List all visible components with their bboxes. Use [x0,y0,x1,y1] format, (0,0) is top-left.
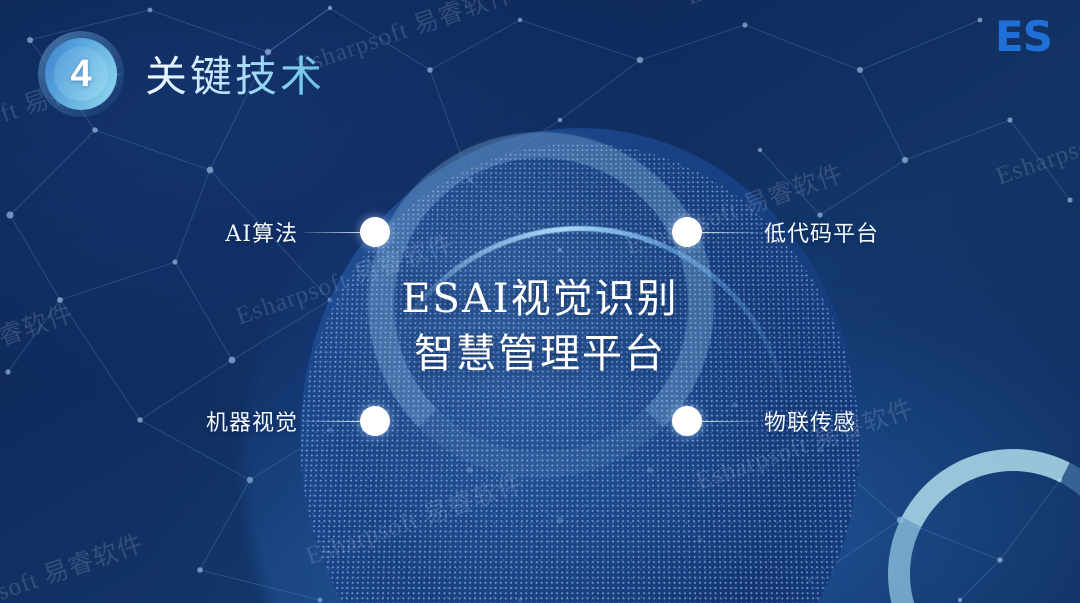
section-number-badge: 4 [38,31,124,117]
tech-node-label: AI算法 [225,216,298,248]
connector-line [304,421,360,422]
slide-canvas: Esharpsoft 易睿软件 Esharpsoft 易睿软件 Esharpso… [0,0,1080,603]
watermark-text: Esharpsoft 易睿软件 [680,0,907,12]
platform-title-line2: 智慧管理平台 [0,327,1080,382]
tech-node-ai-algorithm[interactable]: AI算法 [150,214,390,250]
tech-node-label: 机器视觉 [206,405,298,437]
tech-node-label: 低代码平台 [764,216,879,248]
connector-dot-icon [672,406,702,436]
connector-line [702,421,758,422]
platform-title-line1: ESAI视觉识别 [401,276,678,322]
tech-node-iot-sensing[interactable]: 物联传感 [672,403,972,439]
tech-node-low-code[interactable]: 低代码平台 [672,214,972,250]
connector-dot-icon [360,406,390,436]
corner-arc-decoration [855,416,1080,603]
section-number: 4 [38,31,124,117]
connector-dot-icon [672,217,702,247]
watermark-text: Esharpsoft 易睿软件 [300,464,527,572]
connector-line [702,232,758,233]
brand-logo: ES [995,12,1052,61]
connector-dot-icon [360,217,390,247]
watermark-text: Esharpsoft 易睿软件 [0,524,148,603]
tech-node-machine-vision[interactable]: 机器视觉 [150,403,390,439]
page-title: 关键技术 [145,43,325,104]
watermark-text: Esharpsoft 易睿软件 [990,84,1080,192]
platform-title: ESAI视觉识别 智慧管理平台 [0,272,1080,382]
connector-line [304,232,360,233]
tech-node-label: 物联传感 [764,405,856,437]
